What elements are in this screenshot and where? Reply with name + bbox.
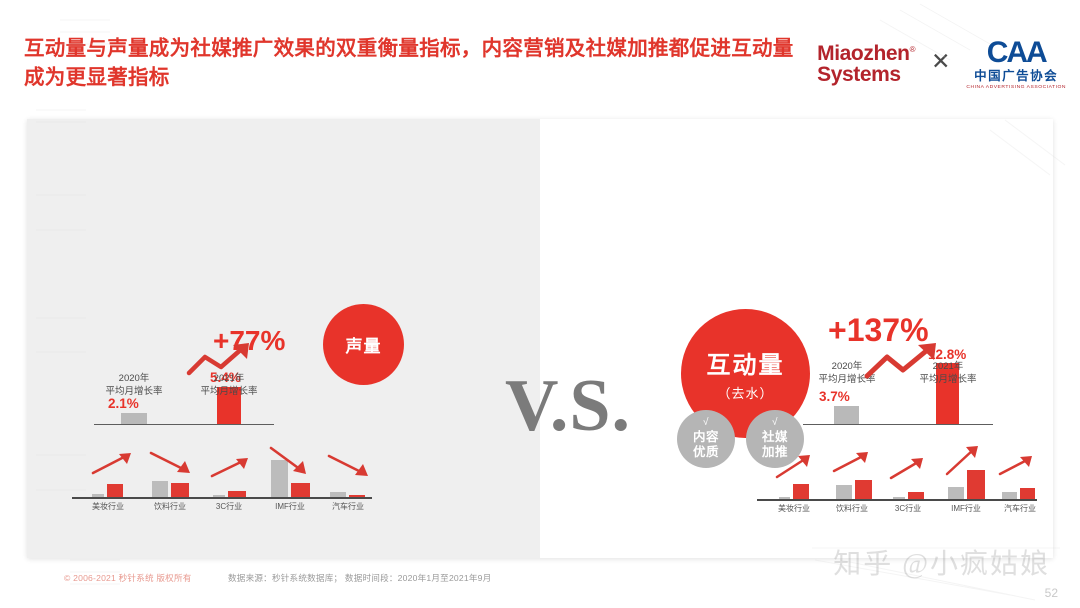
left-industry-label-1: 饮料行业 (140, 501, 200, 512)
right-industry-bar-red-1 (855, 480, 872, 499)
tag-circle-social-boost: √ 社媒 加推 (746, 410, 804, 468)
caa-logo-mark: CAA (966, 38, 1066, 68)
right-industry-label-4: 汽车行业 (991, 503, 1049, 514)
miaozhen-logo-line2: Systems (817, 64, 915, 85)
left-industry-bar-red-0 (107, 484, 123, 497)
left-industry-bar-red-1 (171, 483, 189, 497)
right-trend-arrow (865, 342, 945, 382)
right-industry-bar-gray-3 (948, 487, 964, 499)
right-chart-value-2020: 3.7% (819, 389, 850, 404)
left-industry-label-2: 3C行业 (200, 501, 258, 512)
right-industry-bar-gray-0 (779, 497, 790, 499)
left-industry-bar-gray-0 (92, 494, 104, 497)
left-industry-bar-red-2 (228, 491, 246, 497)
right-industry-bar-gray-2 (893, 497, 905, 499)
left-industry-trend-arrow-2 (210, 457, 255, 479)
caa-logo-english: CHINA ADVERTISING ASSOCIATION (966, 85, 1066, 90)
right-industry-bar-red-4 (1020, 488, 1035, 499)
left-industry-bar-gray-2 (213, 495, 225, 497)
left-chart-xlabel-2020-line1: 2020年 (102, 373, 166, 386)
right-industry-bar-red-2 (908, 492, 924, 499)
cross-icon: ✕ (929, 48, 952, 81)
left-industry-trend-arrow-1 (149, 450, 197, 476)
right-industry-trend-arrow-4 (998, 455, 1040, 479)
logo-zone: Miaozhen® Systems ✕ CAA 中国广告协会 CHINA ADV… (814, 28, 1066, 100)
miaozhen-logo-line1: Miaozhen (817, 42, 909, 65)
interaction-volume-sublabel: （去水） (717, 383, 773, 402)
right-industry-bar-gray-1 (836, 485, 852, 499)
footer-data-source: 数据来源：秒针系统数据库； 数据时间段：2020年1月至2021年9月 (228, 572, 491, 584)
sound-volume-label: 声量 (346, 332, 382, 357)
left-chart-xlabel-2020: 2020年 平均月增长率 (102, 373, 166, 399)
right-chart-bar-2020 (834, 406, 859, 424)
tag-social-line1: 社媒 (762, 430, 788, 445)
miaozhen-logo-trademark: ® (910, 45, 916, 54)
check-icon: √ (772, 418, 778, 428)
tag-social-line2: 加推 (762, 445, 788, 460)
right-industry-label-1: 饮料行业 (823, 503, 881, 514)
interaction-volume-label: 互动量 (707, 345, 785, 380)
left-industry-label-3: IMF行业 (260, 501, 320, 512)
right-industry-trend-arrow-3 (945, 445, 987, 477)
versus-label: V.S. (468, 369, 668, 443)
left-chart-xlabel-2020-line2: 平均月增长率 (102, 386, 166, 399)
check-icon: √ (703, 418, 709, 428)
left-trend-arrow (187, 341, 257, 377)
right-industry-label-2: 3C行业 (879, 503, 937, 514)
right-industry-label-0: 美妆行业 (765, 503, 823, 514)
page-title: 互动量与声量成为社媒推广效果的双重衡量指标，内容营销及社媒加推都促进互动量成为更… (24, 34, 794, 92)
tag-content-line2: 优质 (693, 445, 719, 460)
caa-logo: CAA 中国广告协会 CHINA ADVERTISING ASSOCIATION (966, 38, 1066, 91)
left-industry-bar-gray-1 (152, 481, 168, 497)
right-industry-bar-gray-4 (1002, 492, 1017, 499)
right-chart-axis (803, 424, 993, 426)
footer-copyright: © 2006-2021 秒针系统 版权所有 (64, 572, 192, 584)
right-industry-label-3: IMF行业 (937, 503, 995, 514)
caa-logo-chinese: 中国广告协会 (966, 68, 1066, 85)
left-chart-bar-2020 (121, 413, 147, 424)
tag-content-line1: 内容 (693, 430, 719, 445)
left-industry-bar-red-3 (291, 483, 310, 497)
left-industry-bar-gray-4 (330, 492, 346, 497)
left-industry-trend-arrow-0 (91, 452, 136, 476)
left-chart-axis (94, 424, 274, 426)
right-industry-trend-arrow-1 (832, 451, 876, 475)
left-chart-xlabel-2021-line2: 平均月增长率 (197, 386, 261, 399)
page-number: 52 (1045, 586, 1058, 600)
sound-volume-circle: 声量 (323, 304, 404, 385)
left-industry-trend-arrow-3 (269, 445, 317, 477)
left-industry-axis (72, 497, 372, 499)
left-industry-bar-red-4 (349, 495, 365, 497)
left-industry-label-0: 美妆行业 (78, 501, 138, 512)
left-growth-chart: 2.1% 5.4% 2020年 平均月增长率 2021年 平均月增长率 (94, 369, 274, 425)
left-industry-label-4: 汽车行业 (318, 501, 378, 512)
right-industry-trend-arrow-2 (889, 457, 931, 481)
tag-circle-content-quality: √ 内容 优质 (677, 410, 735, 468)
miaozhen-logo: Miaozhen® Systems (817, 43, 915, 86)
left-industry-trend-arrow-4 (327, 453, 375, 479)
right-industry-bar-red-0 (793, 484, 809, 499)
right-industry-axis (757, 499, 1037, 501)
comparison-card: 声量 +77% 2.1% 5.4% 2020年 平均月增长率 2021年 平均月… (27, 119, 1053, 558)
